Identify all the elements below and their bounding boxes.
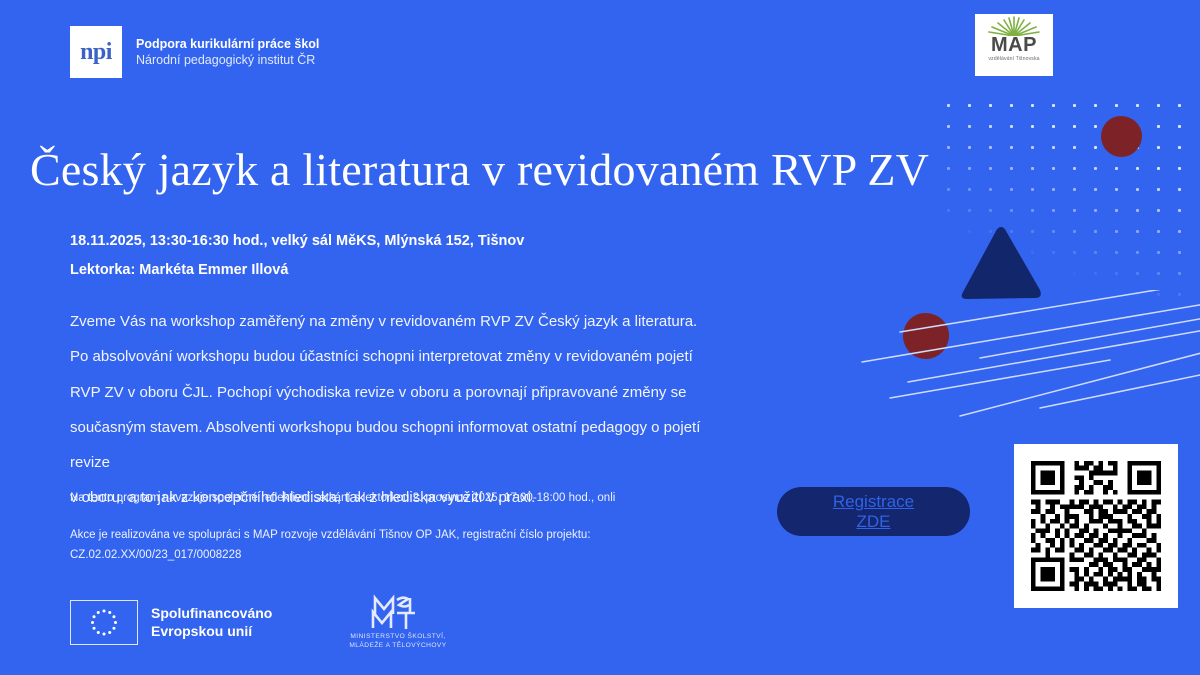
map-logo-word: MAP [991,35,1037,55]
npi-caption-line2: Národní pedagogický institut ČR [136,52,319,68]
npi-logo-text: npi [80,39,112,66]
npi-logo-block: npi Podpora kurikulární práce škol Národ… [70,26,319,78]
page-title: Český jazyk a literatura v revidovaném R… [30,143,1100,196]
npi-logo-caption: Podpora kurikulární práce škol Národní p… [136,36,319,68]
description-line-5: revize [70,448,850,477]
description-line-2: Po absolvování workshopu budou účastníci… [70,342,850,371]
msmt-monogram-icon [367,592,429,632]
event-datetime-place: 18.11.2025, 13:30-16:30 hod., velký sál … [70,234,790,249]
project-info-line1: Akce je realizována ve spolupráci s MAP … [70,526,770,546]
red-circle-decor-top [1101,116,1142,157]
registration-button[interactable]: Registrace ZDE [777,487,970,536]
msmt-caption-line1: MINISTERSTVO ŠKOLSTVÍ, [333,633,463,642]
qr-code-image[interactable] [1026,456,1166,596]
navy-triangle-decor [958,224,1044,302]
diagonal-lines-decor [860,290,1200,420]
registration-button-line2[interactable]: ZDE [857,512,891,531]
eu-caption-line2: Evropskou unií [151,623,272,640]
description-line-3: RVP ZV v oboru ČJL. Pochopí východiska r… [70,378,850,407]
map-logo-subtitle: vzdělávání Tišnovska [988,56,1039,62]
event-meta: 18.11.2025, 13:30-16:30 hod., velký sál … [70,234,790,291]
map-logo: MAP vzdělávání Tišnovska [975,14,1053,76]
eu-caption-line1: Spolufinancováno [151,605,272,622]
registration-button-line1[interactable]: Registrace [833,492,914,511]
project-info-line2: CZ.02.02.XX/00/23_017/0008228 [70,546,770,566]
red-circle-decor-left [903,313,949,359]
msmt-caption-line2: MLÁDEŽE A TĚLOVÝCHOVY [333,642,463,651]
followup-note: Na tento program navazuje společné refle… [70,489,830,507]
dot-pattern-decor [938,95,1196,317]
event-description: Zveme Vás na workshop zaměřený na změny … [70,307,850,519]
eu-funding-caption: Spolufinancováno Evropskou unií [151,605,272,639]
description-line-1: Zveme Vás na workshop zaměřený na změny … [70,307,850,336]
msmt-logo: MINISTERSTVO ŠKOLSTVÍ, MLÁDEŽE A TĚLOVÝC… [333,592,463,651]
description-line-4: současným stavem. Absolventi workshopu b… [70,413,850,442]
project-info: Akce je realizována ve spolupráci s MAP … [70,526,770,565]
npi-logo-mark: npi [70,26,122,78]
map-starburst-icon [988,16,1040,36]
eu-funding-logo: Spolufinancováno Evropskou unií [70,600,272,645]
qr-code[interactable] [1014,444,1178,608]
npi-caption-line1: Podpora kurikulární práce škol [136,36,319,52]
event-lecturer: Lektorka: Markéta Emmer Illová [70,263,790,278]
eu-flag-icon [70,600,138,645]
poster-canvas: npi Podpora kurikulární práce škol Národ… [0,0,1200,675]
